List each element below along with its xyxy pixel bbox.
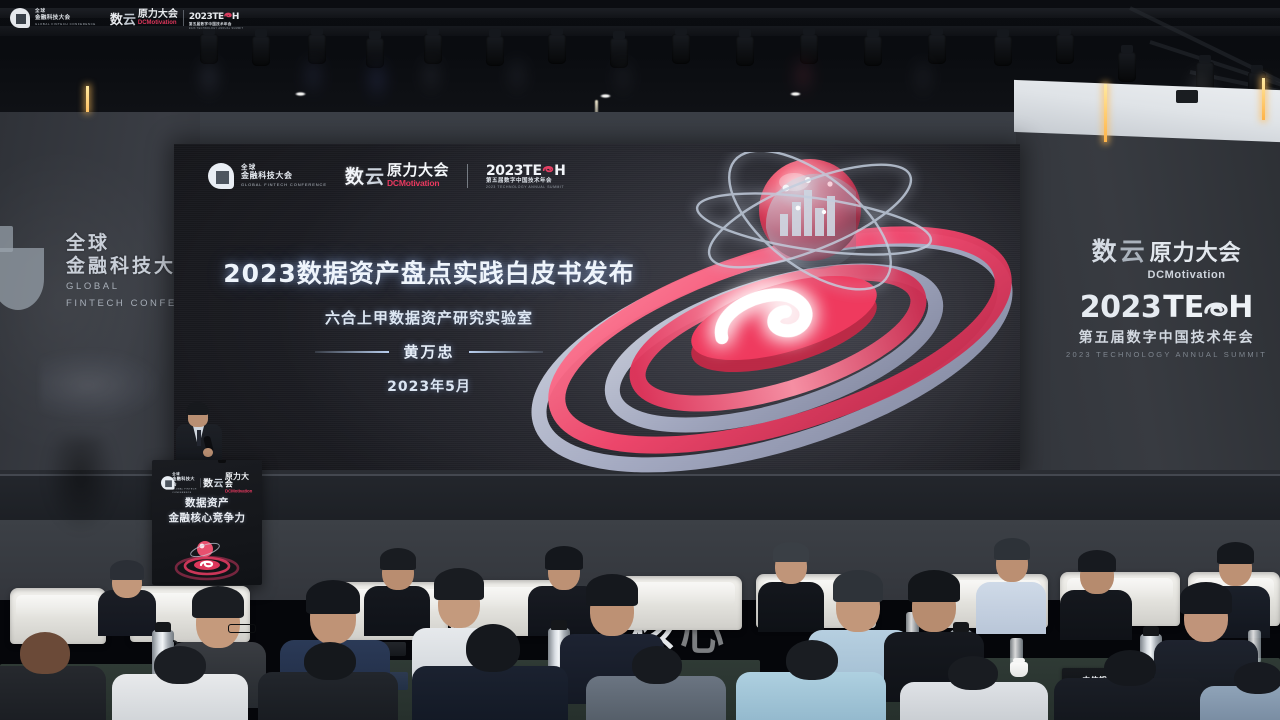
screen-gfc-line3: GLOBAL FINTECH CONFERENCE [241,182,327,188]
right-sign-tech-row: 2023 TE H [1066,290,1267,325]
slide-subtitle: 六合上甲数据资产研究实验室 [214,307,644,328]
spotlight-flare [790,92,801,96]
stage-light [736,36,754,66]
gfc-mark-icon [208,163,234,189]
gfc-mark-icon [161,476,169,490]
speaker-hair [186,402,209,415]
swirl-logo-icon [542,162,554,175]
spotlight-flare [295,92,306,96]
light-glow [196,54,222,100]
light-glow [300,52,326,98]
gfc-logo-mark-icon [0,248,44,310]
dcm-sub: DCMotivation [138,20,178,27]
led-presentation-screen: 全球 金融科技大会 GLOBAL FINTECH CONFERENCE 数 云 … [174,144,1020,474]
slide-text-block: 2023数据资产盘点实践白皮书发布 六合上甲数据资产研究实验室 黄万忠 2023… [214,254,644,396]
stage-light [548,34,566,64]
audience-person [258,642,398,720]
dcm-sub: DCMotivation [225,489,252,494]
audience-area: 中国进出口银行 中信银行 中信银行 [0,520,1280,720]
audience-person [112,646,248,720]
broadcast-watermark: 全球 金融科技大会 GLOBAL FINTECH CONFERENCE 数 云 … [10,6,243,30]
audience-person [586,646,726,720]
watermark-tech-logo: 2023 TE H 第五届数字中国技术年会 2023 TECHNOLOGY AN… [189,6,243,30]
dcm-yuanli: 原力大会 [225,472,252,488]
audience-person [1200,662,1280,720]
dcm-sub: DCMotivation [387,179,449,188]
stage-light [864,36,882,66]
audience-person [412,624,568,720]
brand-char-shu: 数 [1092,232,1118,268]
light-glow [418,52,444,98]
right-sign-brand-row: 数 云 原力大会 [1066,232,1267,268]
tech-te: TE [1163,290,1204,325]
podium-logo-strip: 全球 金融科技大会 GLOBAL FINTECH CONFERENCE 数 云 … [161,472,252,494]
dcm-char-shu: 数 [110,9,123,28]
dcm-char-shu: 数 [203,476,213,490]
watermark-gfc-line3: GLOBAL FINTECH CONFERENCE [35,22,96,26]
light-strip [86,86,89,112]
podium-gfc-line2: 金融科技大会 [172,476,197,487]
audience-person [0,632,106,720]
audience-person [976,538,1046,630]
brand-dcmotivation: DCMotivation [1106,269,1267,281]
dcm-yuanli: 原力大会 [138,10,178,20]
stage-light [672,34,690,64]
audience-person [1060,548,1132,634]
screen-tech-logo: 2023 TE H 第五届数字中国技术年会 2023 TECHNOLOGY AN… [486,162,566,189]
upper-lit-panel [1014,80,1280,142]
light-glow [364,56,390,102]
right-wall-signage: 数 云 原力大会 DCMotivation 2023 TE H 第五届数字中国技… [1066,232,1267,359]
speaker-wall-shadow [46,436,116,532]
slide-date: 2023年5月 [214,376,644,396]
screen-tech-en: 2023 TECHNOLOGY ANNUAL SUMMIT [486,186,566,189]
dcm-yuanli: 原力大会 [387,163,449,178]
dcm-char-yun: 云 [214,476,224,490]
dcm-char-yun: 云 [365,162,384,189]
podium-dcm-logo: 数 云 原力大会 DCMotivation [203,472,252,493]
logo-divider [467,164,468,188]
decor-rule-right [469,351,543,353]
screen-tech-te: TE [523,164,542,178]
speaker-tie [197,430,201,446]
speaker-hand [203,448,213,457]
tech-year: 2023 [1080,290,1162,325]
watermark-tech-en: 2023 TECHNOLOGY ANNUAL SUMMIT [189,27,243,30]
screen-tech-cn: 第五届数字中国技术年会 [486,179,566,185]
brand-yuanli-dahui: 原力大会 [1150,235,1242,267]
gfc-mark-icon [10,8,30,28]
wall-galaxy-graphic [40,350,160,420]
stage-light [994,36,1012,66]
screen-gfc-line1: 全球 [241,163,327,171]
stage-light [1118,52,1136,82]
screen-dcm-logo: 数 云 原力大会 DCMotivation [345,162,449,189]
slide-title: 2023数据资产盘点实践白皮书发布 [214,254,644,290]
watermark-dcm-logo: 数 云 原力大会 DCMotivation 2023 TE H [110,6,244,30]
watermark-tech-te: TE [212,12,224,22]
light-glow [610,54,636,100]
light-glow [910,54,936,100]
panel-fixture [1176,90,1198,103]
screen-gfc-line2: 金融科技大会 [241,171,327,181]
podium-title-line1: 数据资产 [152,496,262,511]
light-glow [504,52,530,98]
dcm-char-yun: 云 [123,9,136,28]
stage-light [486,36,504,66]
watermark-gfc-line2: 金融科技大会 [35,15,96,22]
podium-gfc-line3: GLOBAL FINTECH CONFERENCE [172,488,197,494]
swirl-logo-icon [1203,293,1229,323]
slide-speaker-row: 黄万忠 [214,341,644,362]
tech-h: H [1228,290,1253,325]
podium-microphone-icon [218,460,226,463]
slide-speaker-name: 黄万忠 [403,341,454,362]
brand-char-yun: 云 [1120,232,1146,268]
right-sign-en-line: 2023 TECHNOLOGY ANNUAL SUMMIT [1066,350,1267,359]
eyeglasses-icon [228,624,256,633]
spotlight-flare [600,94,611,98]
stage-light [1056,34,1074,64]
screen-gfc-logo: 全球 金融科技大会 GLOBAL FINTECH CONFERENCE [208,163,327,189]
light-strip [1104,84,1107,142]
light-strip [1262,78,1265,120]
screen-logo-strip: 全球 金融科技大会 GLOBAL FINTECH CONFERENCE 数 云 … [208,162,566,189]
watermark-gfc-logo: 全球 金融科技大会 GLOBAL FINTECH CONFERENCE [10,8,96,28]
screen-tech-year: 2023 [486,164,523,178]
watermark-tech-year: 2023 [189,12,212,22]
audience-person [98,558,156,630]
audience-person [736,640,886,720]
dcm-char-shu: 数 [345,162,364,189]
screen-tech-h: H [554,164,566,178]
right-sign-cn-line: 第五届数字中国技术年会 [1066,327,1267,347]
audience-person [1054,650,1204,720]
conference-stage-photo: 全球 金融科技大会 GLOBAL FINTECH CONFERENCE 数 云 … [0,0,1280,720]
decor-rule-left [315,351,389,353]
audience-person [900,656,1048,720]
stage-light [252,36,270,66]
swirl-logo-icon [224,6,232,15]
watermark-tech-h: H [232,12,239,22]
